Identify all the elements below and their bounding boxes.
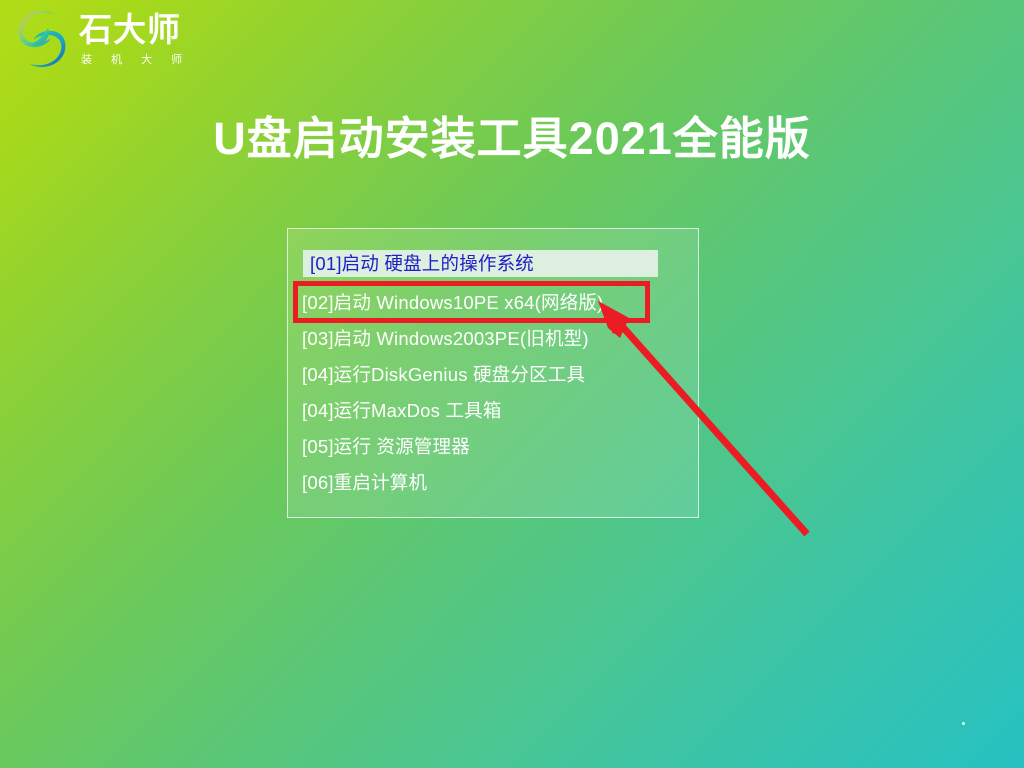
- brand-logo: 石大师 装 机 大 师: [14, 8, 190, 70]
- boot-menu-item-3[interactable]: [03]启动 Windows2003PE(旧机型): [302, 325, 589, 352]
- boot-menu-item-7[interactable]: [06]重启计算机: [302, 469, 427, 496]
- brand-subtitle: 装 机 大 师: [79, 51, 190, 67]
- page-title: U盘启动安装工具2021全能版: [0, 112, 1024, 166]
- brand-name: 石大师: [79, 13, 190, 48]
- boot-menu-item-1[interactable]: [01]启动 硬盘上的操作系统: [303, 250, 658, 277]
- boot-menu-item-4[interactable]: [04]运行DiskGenius 硬盘分区工具: [302, 361, 585, 388]
- stylized-s-logo-icon: [14, 8, 70, 70]
- stray-pixel-dot: [962, 722, 965, 725]
- boot-menu-item-5[interactable]: [04]运行MaxDos 工具箱: [302, 397, 502, 424]
- annotation-highlight-box: [293, 281, 650, 323]
- brand-text-block: 石大师 装 机 大 师: [79, 11, 190, 67]
- boot-menu-item-6[interactable]: [05]运行 资源管理器: [302, 433, 470, 460]
- boot-menu-panel: [01]启动 硬盘上的操作系统[02]启动 Windows10PE x64(网络…: [287, 228, 699, 518]
- boot-menu-screen: 石大师 装 机 大 师 U盘启动安装工具2021全能版 [01]启动 硬盘上的操…: [0, 0, 1024, 768]
